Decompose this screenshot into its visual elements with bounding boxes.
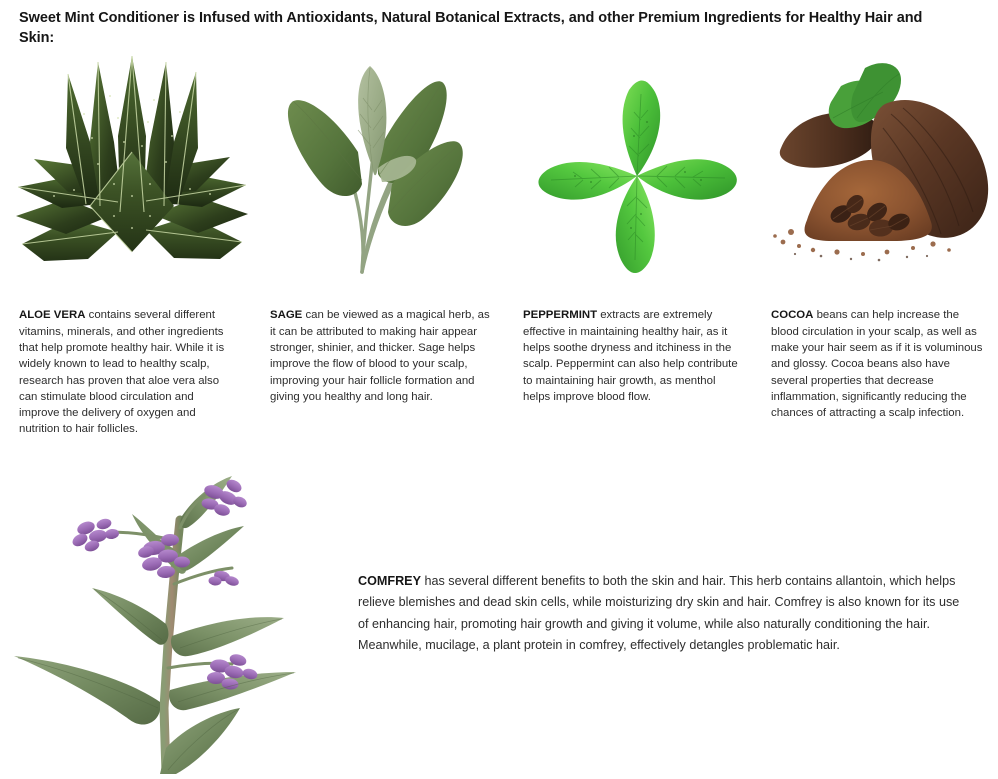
peppermint-image: [519, 56, 755, 278]
ingredient-column-sage: [266, 56, 502, 278]
ingredient-name: ALOE VERA: [19, 309, 85, 321]
comfrey-image: [8, 458, 338, 774]
ingredient-name: COCOA: [771, 309, 813, 321]
ingredient-description: beans can help increase the blood circul…: [771, 309, 982, 419]
ingredient-name: PEPPERMINT: [523, 309, 597, 321]
ingredient-description: extracts are extremely effective in main…: [523, 309, 738, 402]
ingredient-column-peppermint: [519, 56, 755, 278]
ingredient-caption-aloe-vera: ALOE VERA contains several different vit…: [19, 307, 235, 437]
ingredient-description: can be viewed as a magical herb, as it c…: [270, 309, 490, 402]
ingredient-caption-peppermint: PEPPERMINT extracts are extremely effect…: [523, 307, 742, 405]
ingredient-description: contains several different vitamins, min…: [19, 309, 224, 435]
ingredient-name: SAGE: [270, 309, 302, 321]
ingredient-name: COMFREY: [358, 574, 421, 588]
ingredient-column-cocoa: [767, 56, 998, 278]
ingredient-description: has several different benefits to both t…: [358, 574, 959, 653]
aloe-vera-image: [14, 56, 250, 278]
ingredient-column-aloe-vera: [14, 56, 250, 278]
ingredient-caption-sage: SAGE can be viewed as a magical herb, as…: [270, 307, 492, 405]
sage-image: [266, 56, 502, 278]
page-title: Sweet Mint Conditioner is Infused with A…: [19, 8, 959, 48]
ingredient-caption-cocoa: COCOA beans can help increase the blood …: [771, 307, 985, 421]
comfrey-description-block: COMFREY has several different benefits t…: [358, 571, 968, 657]
cocoa-image: [767, 56, 998, 278]
